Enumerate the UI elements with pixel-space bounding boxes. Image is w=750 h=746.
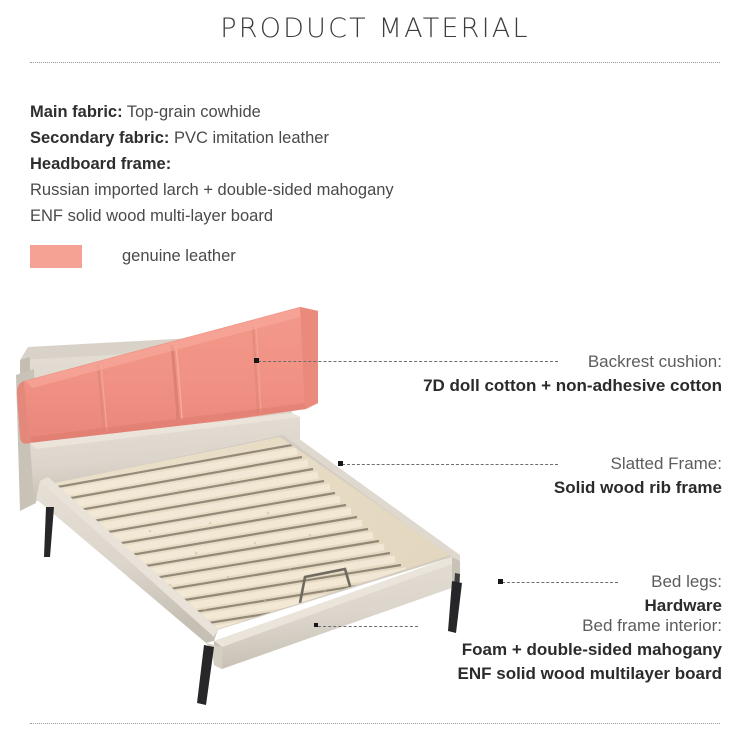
spec-row-headboard-frame: Headboard frame: — [30, 151, 550, 177]
callout-term: Backrest cushion: — [423, 350, 722, 374]
page-title: PRODUCT MATERIAL — [0, 13, 750, 44]
leader-line-bed-legs — [502, 582, 618, 583]
callout-slatted-frame: Slatted Frame: Solid wood rib frame — [554, 452, 722, 500]
callout-value: Foam + double-sided mahogany — [458, 638, 722, 662]
callout-term: Bed frame interior: — [458, 614, 722, 638]
callout-bed-legs: Bed legs: Hardware — [645, 570, 722, 618]
callout-backrest-cushion: Backrest cushion: 7D doll cotton + non-a… — [423, 350, 722, 398]
spec-key: Secondary fabric: — [30, 129, 169, 147]
callout-value: 7D doll cotton + non-adhesive cotton — [423, 374, 722, 398]
callout-value-2: ENF solid wood multilayer board — [458, 662, 722, 686]
spec-row-main-fabric: Main fabric: Top-grain cowhide — [30, 99, 550, 125]
callout-bed-frame-interior: Bed frame interior: Foam + double-sided … — [458, 614, 722, 686]
spec-value: ENF solid wood multi-layer board — [30, 207, 273, 225]
spec-row-headboard-detail-2: ENF solid wood multi-layer board — [30, 203, 550, 229]
material-spec-list: Main fabric: Top-grain cowhide Secondary… — [30, 99, 550, 229]
spec-row-secondary-fabric: Secondary fabric: PVC imitation leather — [30, 125, 550, 151]
spec-key: Headboard frame: — [30, 155, 171, 173]
callout-term: Slatted Frame: — [554, 452, 722, 476]
spec-row-headboard-detail-1: Russian imported larch + double-sided ma… — [30, 177, 550, 203]
spec-value: Top-grain cowhide — [127, 103, 261, 121]
anchor-dot-backrest — [254, 358, 259, 363]
leader-line-slatted-frame — [342, 464, 558, 465]
anchor-dot-slatted-frame — [338, 461, 343, 466]
anchor-dot-bed-legs — [498, 579, 503, 584]
spec-value: Russian imported larch + double-sided ma… — [30, 181, 394, 199]
spec-value: PVC imitation leather — [174, 129, 329, 147]
divider-top — [30, 62, 720, 64]
anchor-dot-bed-frame-interior — [314, 623, 318, 627]
callout-term: Bed legs: — [645, 570, 722, 594]
legend: genuine leather — [30, 245, 236, 268]
divider-bottom — [30, 723, 720, 725]
leader-line-bed-frame-interior — [318, 626, 418, 627]
callout-value: Solid wood rib frame — [554, 476, 722, 500]
spec-key: Main fabric: — [30, 103, 123, 121]
legend-color-swatch — [30, 245, 82, 268]
legend-label: genuine leather — [122, 247, 236, 266]
